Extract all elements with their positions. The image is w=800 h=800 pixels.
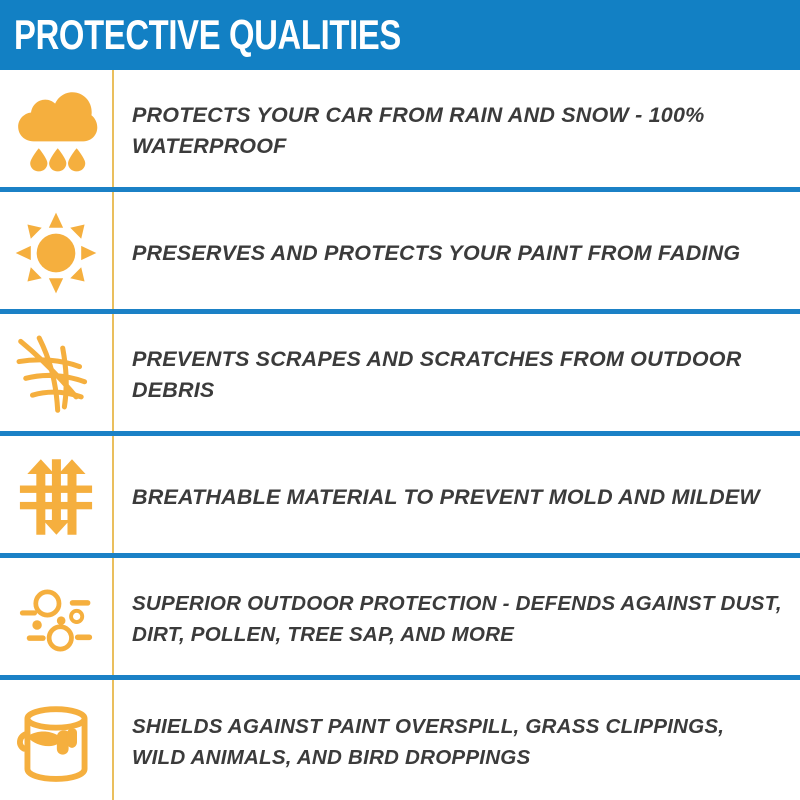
feature-text: PRESERVES AND PROTECTS YOUR PAINT FROM F… bbox=[132, 238, 782, 269]
icon-cell bbox=[0, 70, 112, 192]
text-cell: SHIELDS AGAINST PAINT OVERSPILL, GRASS C… bbox=[112, 711, 800, 773]
text-cell: PREVENTS SCRAPES AND SCRATCHES FROM OUTD… bbox=[112, 344, 800, 406]
text-cell: PROTECTS YOUR CAR FROM RAIN AND SNOW - 1… bbox=[112, 100, 800, 162]
text-cell: PRESERVES AND PROTECTS YOUR PAINT FROM F… bbox=[112, 238, 800, 269]
infographic-page: PROTECTIVE QUALITIES bbox=[0, 0, 800, 800]
sun-icon bbox=[14, 211, 98, 295]
breathable-airflow-icon bbox=[15, 456, 97, 538]
feature-row: SUPERIOR OUTDOOR PROTECTION - DEFENDS AG… bbox=[0, 558, 800, 680]
paint-can-icon bbox=[14, 700, 98, 784]
feature-text: PREVENTS SCRAPES AND SCRATCHES FROM OUTD… bbox=[132, 344, 782, 406]
dust-particles-icon bbox=[13, 576, 99, 662]
feature-row: PROTECTS YOUR CAR FROM RAIN AND SNOW - 1… bbox=[0, 70, 800, 192]
feature-text: PROTECTS YOUR CAR FROM RAIN AND SNOW - 1… bbox=[132, 100, 782, 162]
scratches-icon bbox=[14, 333, 98, 417]
header-banner: PROTECTIVE QUALITIES bbox=[0, 0, 800, 70]
text-cell: SUPERIOR OUTDOOR PROTECTION - DEFENDS AG… bbox=[112, 588, 800, 650]
feature-text: SHIELDS AGAINST PAINT OVERSPILL, GRASS C… bbox=[132, 711, 782, 773]
feature-text: SUPERIOR OUTDOOR PROTECTION - DEFENDS AG… bbox=[132, 588, 782, 650]
feature-text: BREATHABLE MATERIAL TO PREVENT MOLD AND … bbox=[132, 482, 782, 513]
feature-row: PREVENTS SCRAPES AND SCRATCHES FROM OUTD… bbox=[0, 314, 800, 436]
icon-cell bbox=[0, 192, 112, 314]
rain-cloud-icon bbox=[13, 88, 99, 174]
icon-cell bbox=[0, 680, 112, 800]
icon-cell bbox=[0, 314, 112, 436]
text-cell: BREATHABLE MATERIAL TO PREVENT MOLD AND … bbox=[112, 482, 800, 513]
icon-cell bbox=[0, 558, 112, 680]
feature-row: SHIELDS AGAINST PAINT OVERSPILL, GRASS C… bbox=[0, 680, 800, 800]
feature-row: PRESERVES AND PROTECTS YOUR PAINT FROM F… bbox=[0, 192, 800, 314]
feature-list: PROTECTS YOUR CAR FROM RAIN AND SNOW - 1… bbox=[0, 70, 800, 800]
feature-row: BREATHABLE MATERIAL TO PREVENT MOLD AND … bbox=[0, 436, 800, 558]
page-title: PROTECTIVE QUALITIES bbox=[0, 13, 401, 57]
icon-cell bbox=[0, 436, 112, 558]
